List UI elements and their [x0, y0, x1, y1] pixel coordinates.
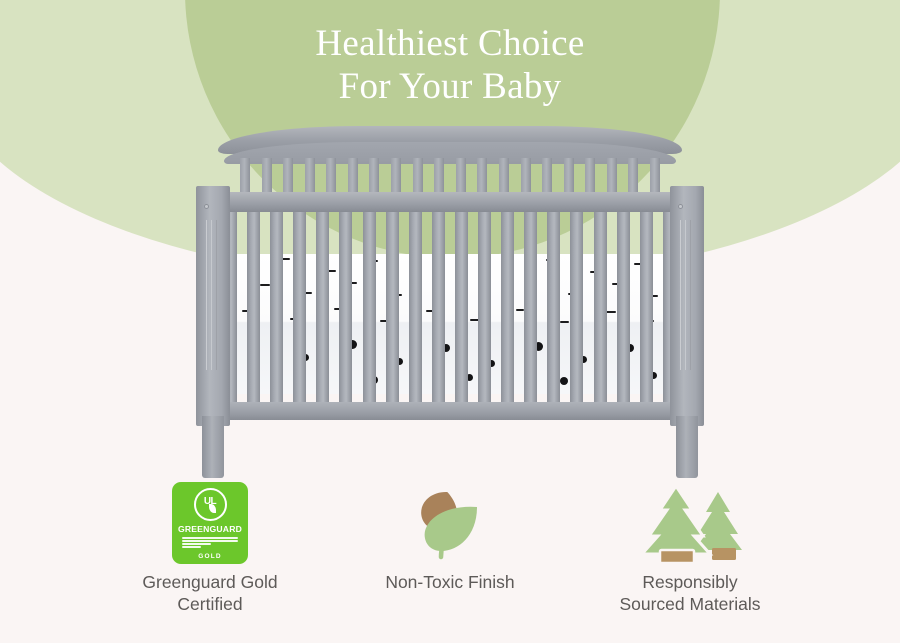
headline-line-1: Healthiest Choice — [315, 23, 584, 64]
crib-slat — [293, 212, 306, 408]
fine-print-line-1 — [182, 537, 238, 539]
feature-caption-line-2: Sourced Materials — [619, 594, 760, 614]
page-title: Healthiest Choice For Your Baby — [0, 22, 900, 109]
crib-leg-right — [676, 416, 698, 478]
crib-slat — [617, 212, 630, 408]
crib-slat — [432, 212, 445, 408]
feature-non-toxic-finish: Non-Toxic Finish — [330, 480, 570, 594]
crib-slat — [640, 212, 653, 408]
crib-slat — [570, 212, 583, 408]
feature-list: UL GREENGUARD GOLD Greenguard Gold Certi… — [0, 480, 900, 630]
fine-print-line-2 — [182, 540, 238, 542]
screw-cap-icon — [678, 204, 683, 209]
greenguard-badge: UL GREENGUARD GOLD — [172, 482, 248, 564]
crib-slat — [386, 212, 399, 408]
greenguard-tier-label: GOLD — [172, 553, 248, 560]
greenguard-wordmark: GREENGUARD — [178, 524, 242, 534]
ul-mark-icon: UL — [194, 488, 227, 521]
crib-slat — [363, 212, 376, 408]
fine-print-line-4 — [182, 546, 201, 548]
pine-trees-icon — [634, 480, 746, 566]
crib-leg-left — [202, 416, 224, 478]
crib-color-label: Gray — [196, 126, 197, 127]
feature-caption: Greenguard Gold Certified — [142, 572, 277, 615]
feature-caption: Non-Toxic Finish — [385, 572, 514, 594]
crib-base-rail — [210, 402, 690, 420]
crib-slat — [501, 212, 514, 408]
crib-slat — [547, 212, 560, 408]
leaf-glyph-icon — [209, 504, 216, 513]
crib-slat — [594, 212, 607, 408]
feature-caption-line-1: Responsibly — [642, 572, 737, 592]
screw-cap-icon — [204, 204, 209, 209]
crib-slat — [409, 212, 422, 408]
feature-responsibly-sourced: Responsibly Sourced Materials — [570, 480, 810, 615]
crib-post-left — [196, 186, 230, 426]
marketing-banner: Healthiest Choice For Your Baby Gray — [0, 0, 900, 643]
feature-caption-line-1: Greenguard Gold — [142, 572, 277, 592]
crib-slat — [478, 212, 491, 408]
greenguard-fine-print — [182, 537, 238, 548]
crib-slat — [316, 212, 329, 408]
greenguard-gold-badge-icon: UL GREENGUARD GOLD — [172, 480, 248, 566]
feature-caption: Responsibly Sourced Materials — [619, 572, 760, 615]
crib-illustration: Gray — [196, 126, 704, 466]
crib-post-right — [670, 186, 704, 426]
crib-slat — [270, 212, 283, 408]
crib-slat — [455, 212, 468, 408]
crib-headboard-bottom-rail — [210, 192, 690, 212]
fine-print-line-3 — [182, 543, 211, 545]
crib-slat — [339, 212, 352, 408]
headline-line-2: For Your Baby — [0, 65, 900, 108]
crib-slat — [524, 212, 537, 408]
crib-front-slats — [224, 212, 676, 408]
feature-caption-line-2: Certified — [177, 594, 242, 614]
feature-greenguard-gold: UL GREENGUARD GOLD Greenguard Gold Certi… — [90, 480, 330, 615]
leaves-icon — [407, 480, 493, 566]
crib-slat — [247, 212, 260, 408]
feature-caption-line-1: Non-Toxic Finish — [385, 572, 514, 592]
